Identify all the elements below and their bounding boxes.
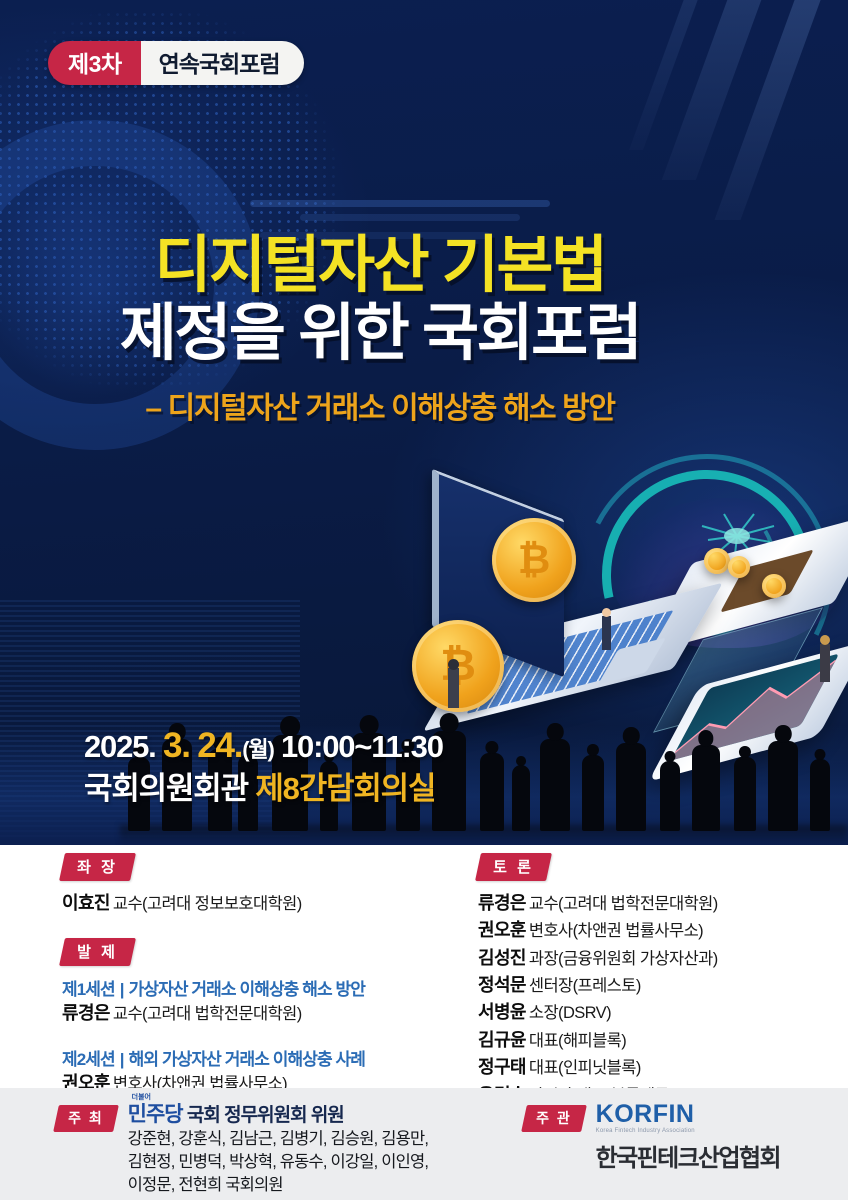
silhouette	[582, 755, 604, 831]
title-line-2: 제정을 위한 국회포럼	[0, 299, 760, 368]
host-names-line-2: 김현정, 민병덕, 박상혁, 유동수, 이강일, 이인영,	[128, 1151, 428, 1174]
silhouette	[480, 753, 504, 831]
silhouette	[810, 759, 830, 831]
speed-line-decoration	[300, 214, 520, 221]
panel-member-name: 김성진	[478, 948, 526, 968]
panel-member-title: 센터장(프레스토)	[529, 977, 641, 995]
organizer-content: KORFIN Korea Fintech Industry Associatio…	[596, 1102, 780, 1173]
panel-member: 권오훈변호사(차앤권 법률사무소)	[478, 917, 828, 944]
badge-label: 연속국회포럼	[141, 41, 304, 85]
panel-member-title: 소장(DSRV)	[529, 1004, 611, 1022]
date-weekday: (월)	[242, 737, 273, 762]
silhouette	[692, 745, 720, 831]
presentation-tag: 발 제	[59, 938, 136, 966]
subtitle: – 디지털자산 거래소 이해상충 해소 방안	[0, 383, 760, 427]
panel-member-name: 정석문	[478, 975, 526, 995]
session-separator: |	[120, 1050, 124, 1069]
chair-tag: 좌 장	[59, 853, 136, 881]
session-item: 제1세션|가상자산 거래소 이해상충 해소 방안 류경은교수(고려대 법학전문대…	[62, 975, 462, 1027]
host-names-line-3: 이정문, 전현희 국회의원	[128, 1174, 428, 1197]
panel-member: 정구태대표(인피닛블록)	[478, 1054, 828, 1081]
date-day: 24.	[197, 726, 242, 765]
korfin-logo-text: KORFIN	[596, 1102, 780, 1127]
session-1-topic: 가상자산 거래소 이해상충 해소 방안	[129, 980, 365, 999]
badge-number: 제3차	[48, 41, 141, 85]
host-headline: 민주당 국회 정무위원회 위원	[128, 1102, 428, 1128]
session-1-speaker-name: 류경은	[62, 1003, 110, 1023]
panel-member-name: 김규윤	[478, 1030, 526, 1050]
person-figure	[602, 616, 611, 650]
hero-section: 제3차 연속국회포럼 디지털자산 기본법 제정을 위한 국회포럼 – 디지털자산…	[0, 0, 848, 845]
date-prefix: 2025.	[84, 729, 156, 764]
panel-list: 류경은교수(고려대 법학전문대학원) 권오훈변호사(차앤권 법률사무소) 김성진…	[478, 890, 828, 1109]
headline-block: 디지털자산 기본법 제정을 위한 국회포럼 – 디지털자산 거래소 이해상충 해…	[0, 233, 760, 427]
silhouette	[734, 757, 756, 831]
date-venue-block: 2025. 3. 24.(월) 10:00~11:30 국회의원회관 제8간담회…	[84, 724, 443, 808]
panel-member-name: 정구태	[478, 1057, 526, 1077]
panel-tag: 토 론	[475, 853, 552, 881]
panel-member-title: 과장(금융위원회 가상자산과)	[529, 950, 718, 968]
small-coin	[762, 574, 786, 598]
session-2-label: 제2세션	[62, 1050, 115, 1069]
venue-line: 국회의원회관 제8간담회의실	[84, 769, 443, 809]
korfin-logo-tagline: Korea Fintech Industry Association	[596, 1128, 780, 1134]
panel-member-title: 교수(고려대 법학전문대학원)	[529, 895, 718, 913]
session-1-label: 제1세션	[62, 980, 115, 999]
event-poster: 제3차 연속국회포럼 디지털자산 기본법 제정을 위한 국회포럼 – 디지털자산…	[0, 0, 848, 1200]
session-1-speaker: 류경은교수(고려대 법학전문대학원)	[62, 1000, 462, 1027]
program-right-column: 토 론 류경은교수(고려대 법학전문대학원) 권오훈변호사(차앤권 법률사무소)…	[478, 853, 828, 1109]
host-party-name: 민주당	[128, 1103, 183, 1126]
small-coin	[704, 548, 730, 574]
bitcoin-coin-screen: ₿	[492, 518, 576, 602]
panel-member-title: 대표(인피닛블록)	[529, 1059, 641, 1077]
venue-room: 제8간담회의실	[255, 771, 435, 806]
panel-member-title: 대표(해피블록)	[529, 1032, 626, 1050]
program-left-column: 좌 장 이효진교수(고려대 정보보호대학원) 발 제 제1세션|가상자산 거래소…	[62, 853, 462, 1097]
host-committee: 국회 정무위원회 위원	[187, 1105, 344, 1126]
silhouette	[512, 765, 530, 831]
date-month: 3.	[163, 726, 190, 765]
panel-member-name: 권오훈	[478, 920, 526, 940]
small-coin	[728, 556, 750, 578]
session-2-topic: 해외 가상자산 거래소 이해상충 사례	[129, 1050, 365, 1069]
session-1-speaker-title: 교수(고려대 법학전문대학원)	[113, 1005, 302, 1023]
panel-member-name: 서병윤	[478, 1002, 526, 1022]
panel-member: 류경은교수(고려대 법학전문대학원)	[478, 890, 828, 917]
organizer-tag: 주 관	[521, 1105, 586, 1132]
speed-line-decoration	[250, 200, 550, 207]
chair-title: 교수(고려대 정보보호대학원)	[113, 895, 302, 913]
session-separator: |	[120, 980, 124, 999]
person-figure	[448, 668, 459, 708]
session-1-title: 제1세션|가상자산 거래소 이해상충 해소 방안	[62, 975, 462, 1000]
host-block: 주 최 민주당 국회 정무위원회 위원 강준현, 강훈식, 김남근, 김병기, …	[56, 1102, 428, 1198]
silhouette	[540, 739, 570, 831]
program-section: 좌 장 이효진교수(고려대 정보보호대학원) 발 제 제1세션|가상자산 거래소…	[0, 845, 848, 1088]
silhouette	[660, 761, 680, 831]
silhouette	[616, 743, 646, 831]
silhouette	[768, 741, 798, 831]
host-content: 민주당 국회 정무위원회 위원 강준현, 강훈식, 김남근, 김병기, 김승원,…	[128, 1102, 428, 1198]
host-names-line-1: 강준현, 강훈식, 김남근, 김병기, 김승원, 김용만,	[128, 1128, 428, 1151]
panel-member: 서병윤소장(DSRV)	[478, 999, 828, 1026]
date-time: 10:00~11:30	[281, 729, 443, 764]
host-tag: 주 최	[53, 1105, 118, 1132]
panel-member: 김규윤대표(해피블록)	[478, 1027, 828, 1054]
session-2-title: 제2세션|해외 가상자산 거래소 이해상충 사례	[62, 1045, 462, 1070]
panel-member: 김성진과장(금융위원회 가상자산과)	[478, 945, 828, 972]
footer-section: 주 최 민주당 국회 정무위원회 위원 강준현, 강훈식, 김남근, 김병기, …	[0, 1088, 848, 1200]
panel-member-title: 변호사(차앤권 법률사무소)	[529, 922, 703, 940]
panel-member-name: 류경은	[478, 893, 526, 913]
organizer-block: 주 관 KORFIN Korea Fintech Industry Associ…	[524, 1102, 780, 1173]
presentation-block: 발 제 제1세션|가상자산 거래소 이해상충 해소 방안 류경은교수(고려대 법…	[62, 938, 462, 1097]
title-line-1: 디지털자산 기본법	[0, 233, 760, 299]
date-line: 2025. 3. 24.(월) 10:00~11:30	[84, 724, 443, 769]
forum-edition-badge: 제3차 연속국회포럼	[48, 41, 304, 85]
person-figure	[820, 644, 830, 682]
chair-person: 이효진교수(고려대 정보보호대학원)	[62, 890, 462, 917]
venue-place: 국회의원회관	[84, 771, 248, 806]
panel-member: 정석문센터장(프레스토)	[478, 972, 828, 999]
chair-name: 이효진	[62, 893, 110, 913]
organizer-name-kr: 한국핀테크산업협회	[596, 1138, 780, 1173]
